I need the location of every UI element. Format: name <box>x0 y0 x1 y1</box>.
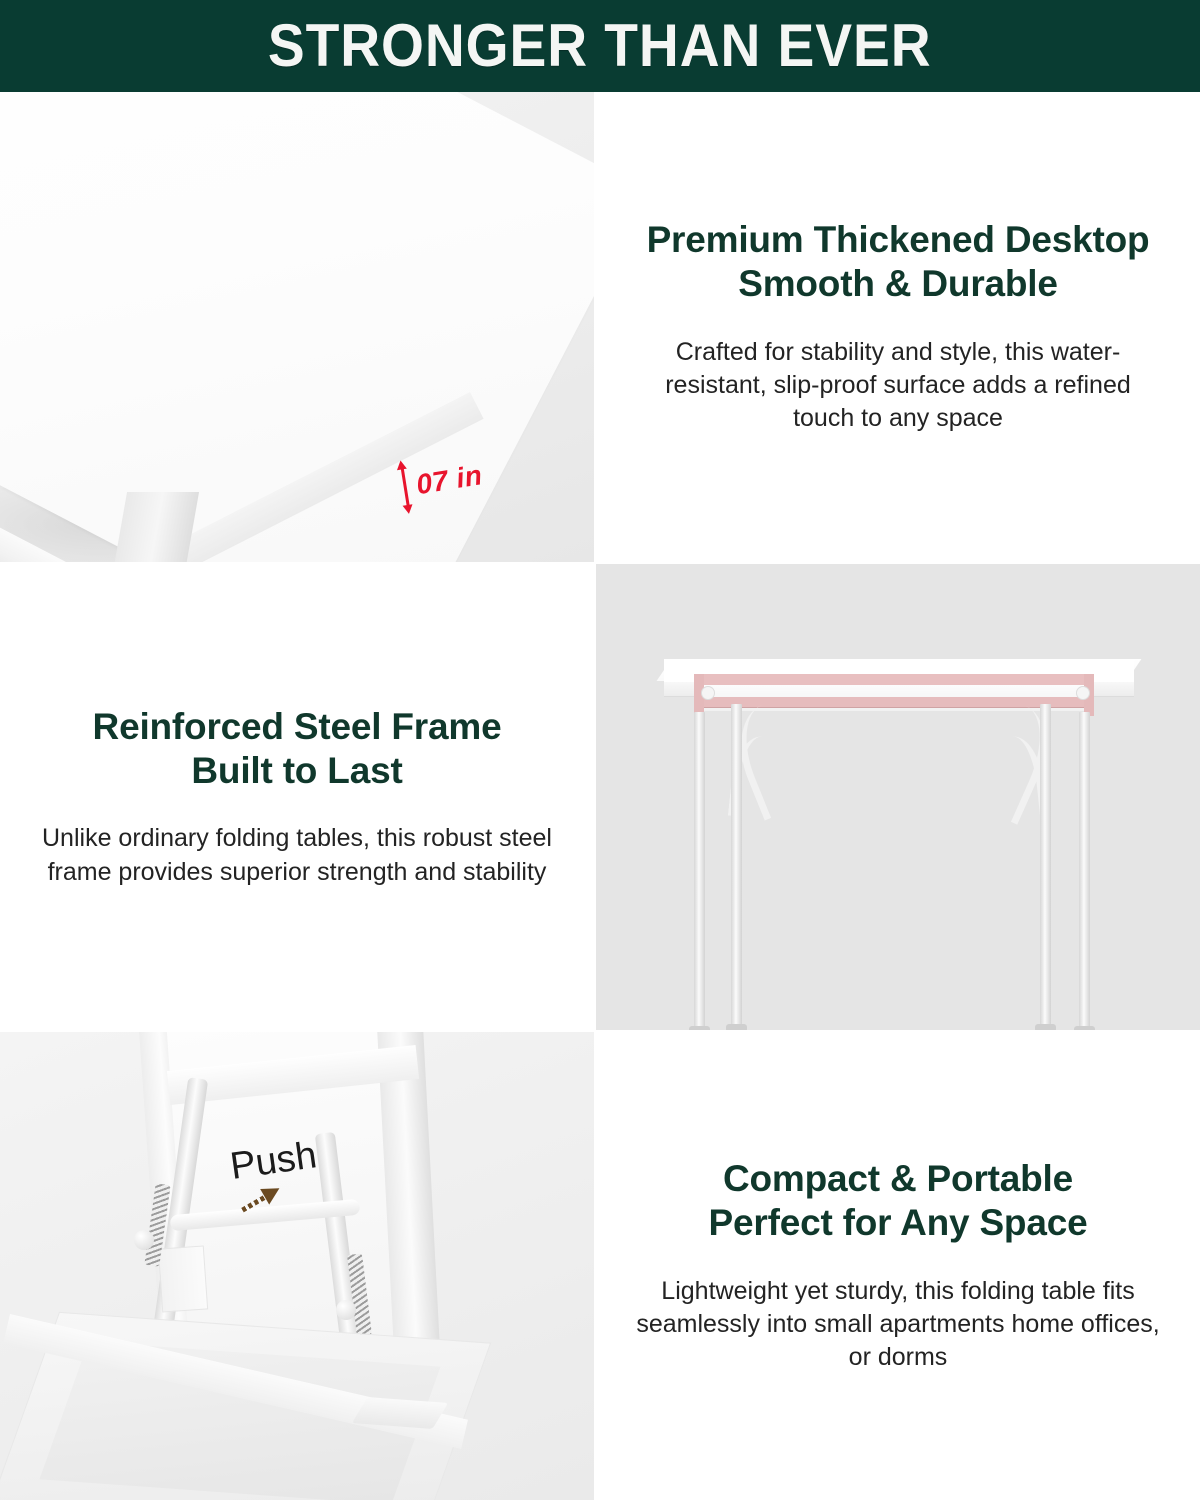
banner-title: STRONGER THAN EVER <box>268 16 932 76</box>
infographic-page: STRONGER THAN EVER 07 in <box>0 0 1200 1500</box>
frame-bracket-right <box>1076 686 1090 700</box>
desktop-heading-line2: Smooth & Durable <box>647 262 1150 306</box>
frame-heading-line2: Built to Last <box>93 749 502 793</box>
frame-bracket-left <box>701 686 715 700</box>
table-foot-2 <box>726 1024 747 1030</box>
portable-text-panel: Compact & Portable Perfect for Any Space… <box>596 1032 1200 1500</box>
portable-textblock: Compact & Portable Perfect for Any Space… <box>596 1032 1200 1500</box>
desktop-heading: Premium Thickened Desktop Smooth & Durab… <box>647 218 1150 305</box>
push-label-text: Push <box>228 1136 319 1186</box>
table-leg-2 <box>731 704 742 1026</box>
push-instruction: Push <box>228 1136 323 1211</box>
frame-body-text: Unlike ordinary folding tables, this rob… <box>34 822 560 889</box>
frame-heading-line1: Reinforced Steel Frame <box>93 706 502 747</box>
folding-table-scene <box>596 564 1200 1030</box>
table-foot-3 <box>1035 1024 1056 1030</box>
folding-mechanism-image: Push <box>0 1032 594 1500</box>
table-leg-4 <box>1079 712 1090 1028</box>
table-leg-1 <box>694 712 705 1028</box>
portable-heading-line2: Perfect for Any Space <box>709 1201 1088 1245</box>
steel-frame-image <box>596 564 1200 1030</box>
desktop-thickness-image: 07 in <box>0 92 594 562</box>
steel-rail-upper <box>694 674 1094 685</box>
desktop-heading-line1: Premium Thickened Desktop <box>647 219 1150 260</box>
steel-rail-lower <box>694 697 1094 707</box>
portable-heading: Compact & Portable Perfect for Any Space <box>709 1157 1088 1244</box>
table-foot-4 <box>1074 1026 1095 1030</box>
desktop-textblock: Premium Thickened Desktop Smooth & Durab… <box>596 92 1200 562</box>
pivot-right <box>336 1300 356 1320</box>
desktop-body-text: Crafted for stability and style, this wa… <box>633 336 1163 436</box>
thickness-label: 07 in <box>414 459 485 501</box>
frame-textblock: Reinforced Steel Frame Built to Last Unl… <box>0 564 594 1030</box>
pivot-left <box>134 1230 154 1250</box>
feature-grid: 07 in Premium Thickened Desktop Smooth &… <box>0 92 1200 1500</box>
mounting-bracket <box>158 1245 208 1312</box>
header-banner: STRONGER THAN EVER <box>0 0 1200 92</box>
folding-mechanism-scene: Push <box>0 1032 594 1500</box>
table-foot-1 <box>689 1026 710 1030</box>
portable-body-text: Lightweight yet sturdy, this folding tab… <box>633 1275 1163 1375</box>
table-leg-3 <box>1040 704 1051 1026</box>
frame-text-panel: Reinforced Steel Frame Built to Last Unl… <box>0 564 594 1030</box>
portable-heading-line1: Compact & Portable <box>723 1158 1073 1199</box>
desk-leg <box>113 492 199 562</box>
frame-heading: Reinforced Steel Frame Built to Last <box>93 705 502 792</box>
desktop-text-panel: Premium Thickened Desktop Smooth & Durab… <box>596 92 1200 562</box>
base-foot <box>352 1397 448 1429</box>
desk-corner-scene: 07 in <box>0 92 594 562</box>
